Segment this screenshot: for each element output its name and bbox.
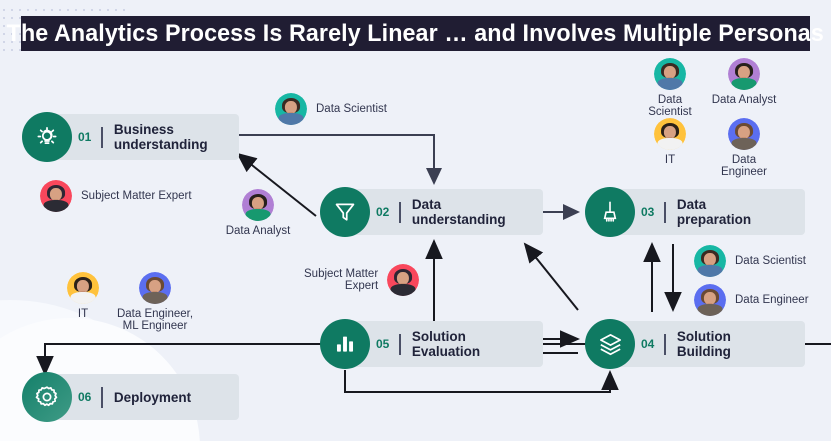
persona-data-engineer-ml-engineer: Data Engineer, ML Engineer — [113, 272, 197, 332]
step-divider — [664, 202, 666, 223]
persona-label: Data Scientist — [735, 255, 806, 267]
layers-icon — [585, 319, 635, 369]
persona-data-engineer-right: Data Engineer — [694, 284, 809, 316]
avatar — [387, 264, 419, 296]
avatar — [654, 58, 686, 90]
step-label: Data understanding — [412, 197, 506, 227]
step-number: 06 — [78, 390, 91, 404]
persona-it-deploy: IT — [48, 272, 118, 320]
persona-label: Subject Matter Expert — [81, 190, 192, 202]
step-divider — [664, 334, 666, 355]
step-number: 01 — [78, 130, 91, 144]
persona-label: Data Scientist — [635, 94, 705, 118]
persona-label: IT — [78, 308, 88, 320]
step-label: Solution Building — [677, 329, 731, 359]
persona-data-scientist-right: Data Scientist — [694, 245, 806, 277]
step-divider — [399, 334, 401, 355]
avatar — [139, 272, 171, 304]
gear-icon — [22, 372, 72, 422]
persona-data-analyst-left: Data Analyst — [223, 189, 293, 237]
avatar — [275, 93, 307, 125]
avatar — [242, 189, 274, 221]
persona-subject-matter-expert: Subject Matter Expert — [40, 180, 192, 212]
persona-data-scientist-cluster: Data Scientist — [635, 58, 705, 118]
step-label: Business understanding — [114, 122, 208, 152]
persona-label: Data Engineer — [709, 154, 779, 178]
persona-subject-matter-expert-eval: Subject Matter Expert — [304, 264, 419, 296]
avatar — [654, 118, 686, 150]
broom-icon — [585, 187, 635, 237]
persona-it-cluster: IT — [635, 118, 705, 166]
persona-label: Data Analyst — [712, 94, 777, 106]
step-number: 04 — [641, 337, 654, 351]
persona-label: Data Engineer — [735, 294, 809, 306]
persona-label: Data Analyst — [226, 225, 291, 237]
step-plate: 05 Solution Evaluation — [343, 321, 543, 367]
step-divider — [101, 387, 103, 408]
avatar — [694, 284, 726, 316]
avatar — [728, 118, 760, 150]
step-number: 02 — [376, 205, 389, 219]
step-number: 05 — [376, 337, 389, 351]
persona-data-engineer-cluster: Data Engineer — [709, 118, 779, 178]
step-plate: 02 Data understanding — [343, 189, 543, 235]
step-divider — [101, 127, 103, 148]
persona-data-analyst-cluster: Data Analyst — [709, 58, 779, 106]
bar-chart-icon — [320, 319, 370, 369]
step-plate: 01 Business understanding — [45, 114, 239, 160]
avatar — [694, 245, 726, 277]
persona-label: Subject Matter Expert — [304, 268, 378, 292]
persona-data-scientist-top: Data Scientist — [275, 93, 387, 125]
step-plate: 03 Data preparation — [608, 189, 805, 235]
funnel-icon — [320, 187, 370, 237]
persona-label: Data Engineer, ML Engineer — [117, 308, 193, 332]
avatar — [67, 272, 99, 304]
avatar — [728, 58, 760, 90]
step-label: Data preparation — [677, 197, 751, 227]
step-label: Deployment — [114, 390, 191, 405]
persona-label: IT — [665, 154, 675, 166]
step-plate: 06 Deployment — [45, 374, 239, 420]
avatar — [40, 180, 72, 212]
persona-label: Data Scientist — [316, 103, 387, 115]
step-number: 03 — [641, 205, 654, 219]
lightbulb-icon — [22, 112, 72, 162]
step-label: Solution Evaluation — [412, 329, 480, 359]
step-plate: 04 Solution Building — [608, 321, 805, 367]
step-divider — [399, 202, 401, 223]
diagram-canvas: The Analytics Process Is Rarely Linear …… — [0, 0, 831, 441]
